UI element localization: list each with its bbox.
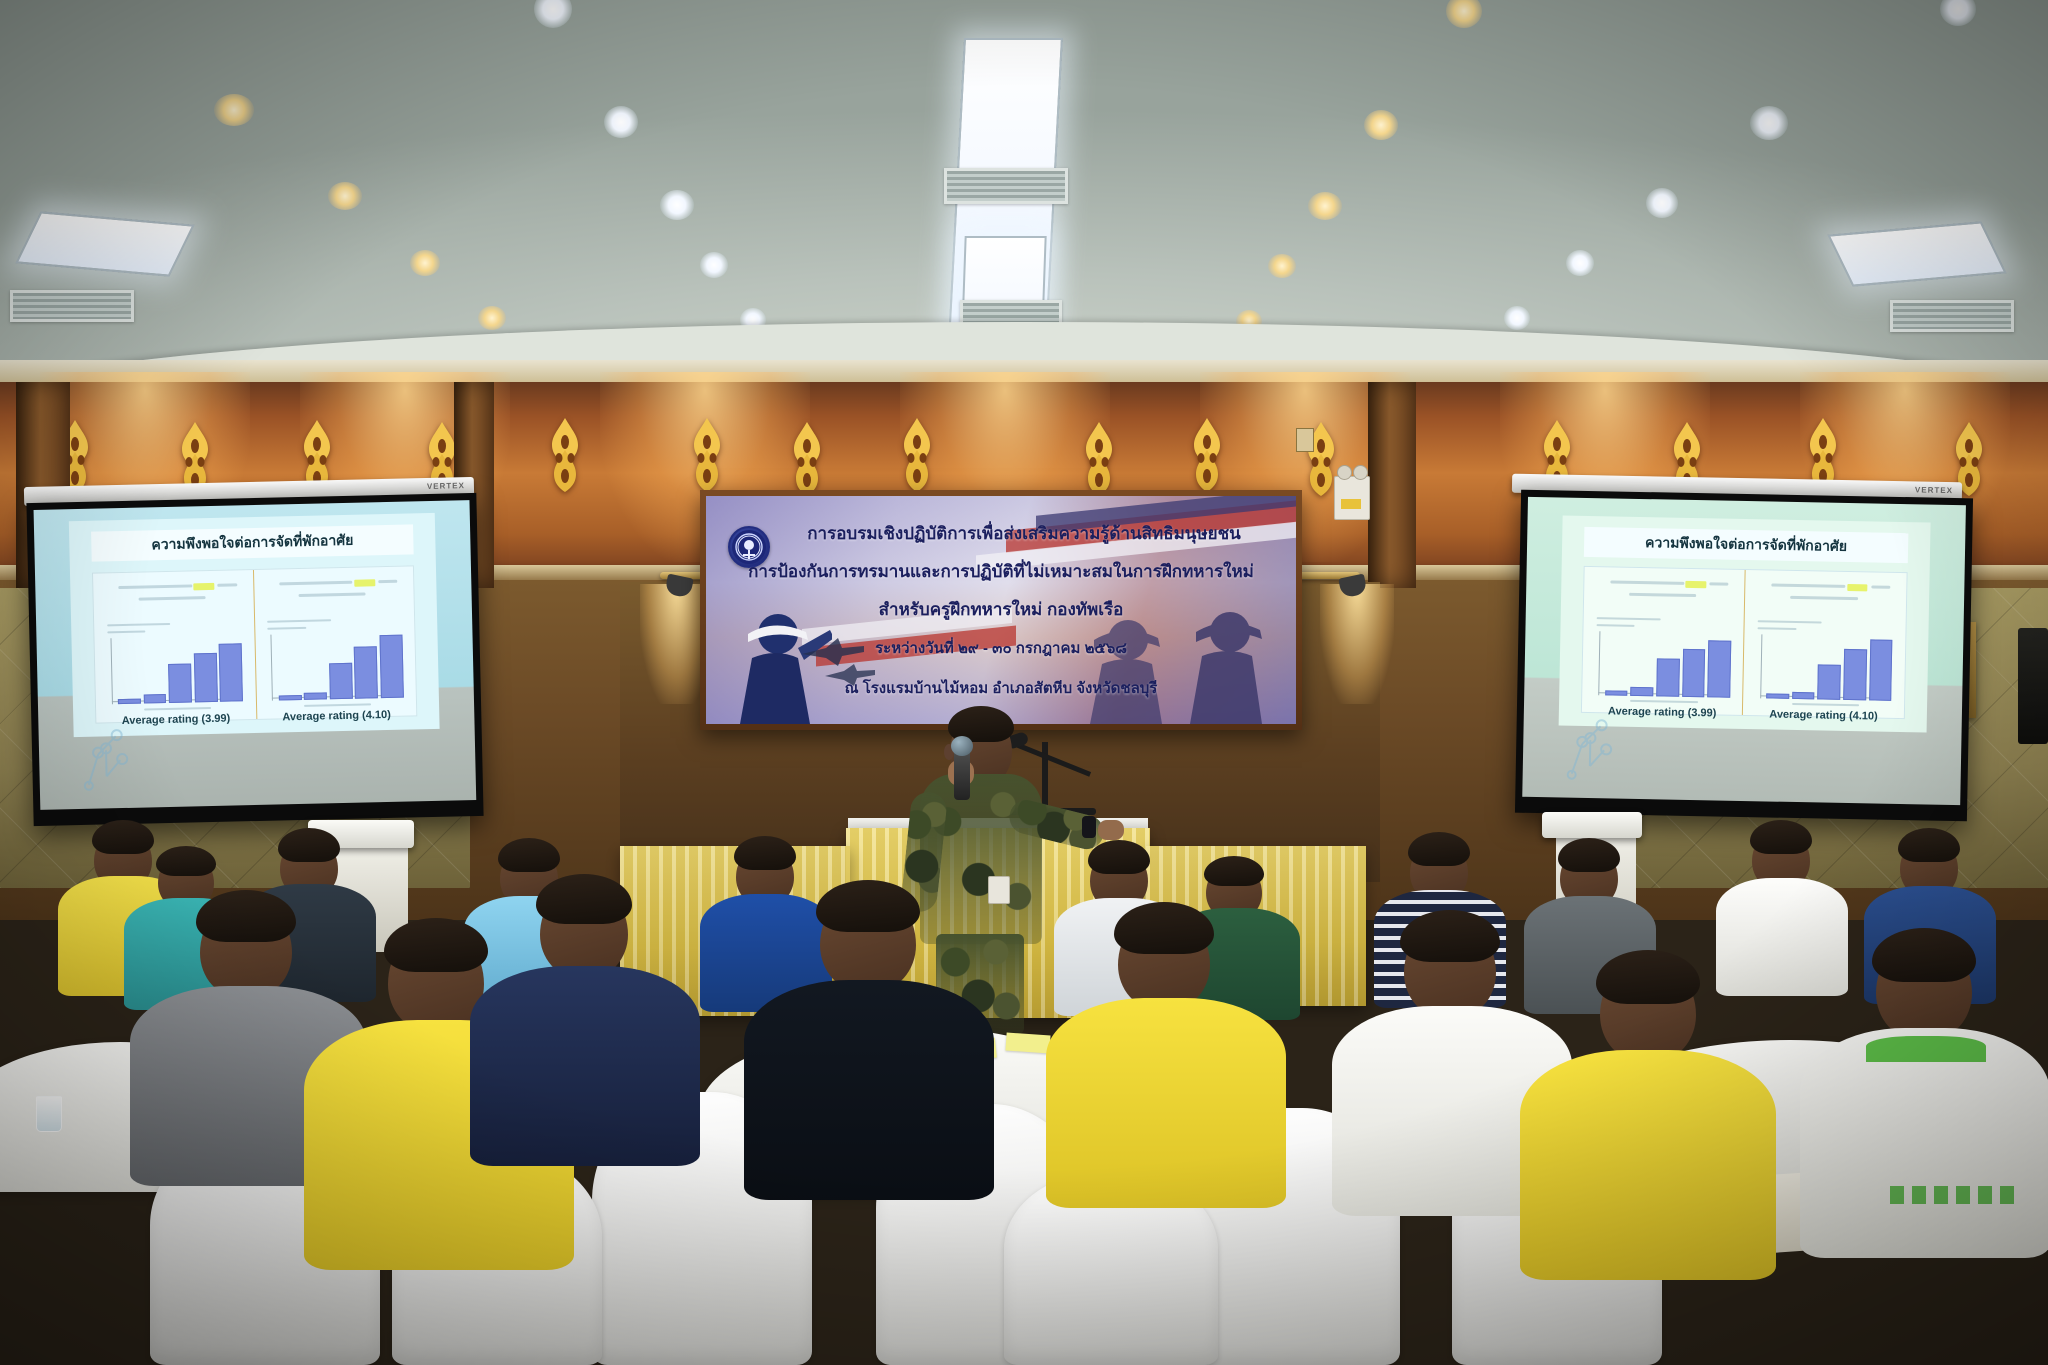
right-projection-screen: ความพึงพอใจต่อการจัดที่พักอาศัย [1515,490,1973,822]
ceiling-air-vent [10,290,134,322]
ceiling-downlight [1364,110,1398,140]
bar-3 [1656,659,1680,697]
highlight-value-b [354,579,375,586]
event-banner-frame: การอบรมเชิงปฏิบัติการเพื่อส่งเสริมความรู… [700,490,1302,730]
audience-hair [278,828,340,862]
ceiling-downlight [534,0,572,28]
bar-4 [354,646,378,698]
bar-5 [380,635,404,698]
wall-pillar-right [1368,382,1416,588]
ceiling-downlight [1504,306,1530,330]
audience-torso-front [1520,1050,1776,1280]
bar-2 [1792,692,1815,699]
ceiling-downlight [1236,310,1262,332]
highlight-value-b [1847,584,1868,591]
ceiling-downlight [1646,188,1678,218]
left-average-rating-b: Average rating (4.10) [257,708,417,724]
bar-2 [1630,687,1653,696]
audience-hair [498,838,560,872]
bar-4 [1682,649,1706,697]
right-slide-chart-area: Average rating (3.99) [1581,566,1908,719]
emergency-light-fixture [1334,476,1370,520]
bar-5 [1707,641,1731,698]
conference-room-photo: VERTEX ความพึงพอใจต่อการจัดที่พักอาศัย [0,0,2048,1365]
audience-torso-front [1046,998,1286,1208]
audience-hair [1204,856,1264,886]
ceiling-downlight [214,94,254,126]
banner-line-2: การป้องกันการทรมานและการปฏิบัติที่ไม่เหม… [706,558,1296,585]
shirt-print-text [1890,1186,2020,1204]
bar-1 [279,695,302,700]
ceiling-downlight [700,252,728,278]
microphone-head [951,736,973,756]
thai-gold-ornament [690,418,724,492]
right-slide-title: ความพึงพอใจต่อการจัดที่พักอาศัย [1584,526,1908,562]
right-chart-panel-b: Average rating (4.10) [1743,570,1906,718]
ceiling-downlight [410,250,440,276]
thai-gold-ornament [1190,418,1224,492]
highlight-value-a [1685,581,1706,588]
right-slide: ความพึงพอใจต่อการจัดที่พักอาศัย [1559,515,1931,732]
thai-gold-ornament [900,418,934,492]
ceiling-downlight [604,106,638,138]
audience-hair [1408,832,1470,866]
bar-3 [168,664,192,703]
audience-torso [1716,878,1848,996]
bar-4 [1843,649,1867,700]
thai-gold-ornament [1082,422,1116,496]
banner-line-3: สำหรับครูฝึกทหารใหม่ กองทัพเรือ [706,596,1296,623]
ceiling-air-vent [960,300,1062,328]
ceiling-downlight [1446,0,1482,28]
banner-line-4: ระหว่างวันที่ ๒๙ - ๓๐ กรกฎาคม ๒๕๖๘ [706,636,1296,660]
bar-1 [1605,690,1628,695]
bar-5 [219,643,243,701]
audience-hair [1898,828,1960,862]
screen-brand-label: VERTEX [427,481,465,491]
banner-line-5: ณ โรงแรมบ้านไม้หอม อำเภอสัตหีบ จังหวัดชล… [706,676,1296,700]
ceiling-panel-light [15,211,194,276]
wall-speaker [2018,628,2048,744]
presenter-id-badge [988,876,1010,904]
presenter-wristwatch [1082,816,1096,838]
water-glass[interactable] [36,1096,62,1132]
left-screen-surface: ความพึงพอใจต่อการจัดที่พักอาศัย [34,500,477,810]
bar-1 [118,699,141,704]
left-slide-chart-area: Average rating (3.99) [92,565,418,723]
ceiling-panel-light [1827,221,2006,286]
left-chart-panel-b: Average rating (4.10) [253,566,416,719]
event-banner: การอบรมเชิงปฏิบัติการเพื่อส่งเสริมความรู… [706,496,1296,724]
audience-hair [92,820,154,854]
right-average-rating-b: Average rating (4.10) [1743,708,1904,723]
left-projection-screen: ความพึงพอใจต่อการจัดที่พักอาศัย [26,493,483,826]
thai-gold-ornament [548,418,582,492]
ceiling-downlight [1940,0,1976,26]
slide-node-decoration [75,714,147,796]
bar-2 [304,692,327,700]
audience-hair [1088,840,1150,874]
screen-brand-label: VERTEX [1915,485,1953,495]
audience-hair [156,846,216,876]
thai-gold-ornament [790,422,824,496]
ceiling-downlight [478,306,506,330]
audience-torso-front [1800,1028,2048,1258]
bar-5 [1869,640,1893,701]
projector-right [1542,812,1642,838]
ceiling-air-vent [944,168,1068,204]
banner-light-glow-right [1320,584,1394,704]
audience-hair [1558,838,1620,872]
ceiling-downlight [1308,192,1342,220]
sticky-note[interactable] [1005,1032,1050,1053]
bar-1 [1766,693,1789,698]
ceiling-downlight [328,182,362,210]
right-screen-surface: ความพึงพอใจต่อการจัดที่พักอาศัย [1522,497,1966,805]
ceiling-downlight [660,190,694,220]
banner-line-1: การอบรมเชิงปฏิบัติการเพื่อส่งเสริมความรู… [706,520,1296,547]
ceiling-downlight [1268,254,1296,278]
audience-hair [734,836,796,870]
right-chart-panel-a: Average rating (3.99) [1582,567,1745,715]
shirt-green-collar [1866,1036,1986,1062]
audience-torso-front [470,966,700,1166]
slide-node-decoration [1560,703,1632,784]
left-slide-title: ความพึงพอใจต่อการจัดที่พักอาศัย [91,524,414,561]
audience-torso-front [744,980,994,1200]
highlight-value-a [194,583,215,590]
ceiling [0,0,2048,372]
ceiling-downlight [1750,106,1788,140]
bar-3 [1817,665,1841,700]
wall-switch-plate[interactable] [1296,428,1314,452]
audience-hair [1750,820,1812,854]
left-slide: ความพึงพอใจต่อการจัดที่พักอาศัย [69,513,440,737]
ceiling-air-vent [1890,300,2014,332]
audience-hair-front [1596,950,1700,1004]
ceiling-downlight [740,308,766,332]
left-chart-panel-a: Average rating (3.99) [93,570,256,723]
presenter-right-hand [1098,820,1124,840]
bar-2 [144,694,167,703]
bar-3 [329,663,353,699]
bar-4 [194,653,218,703]
ceiling-downlight [1566,250,1594,276]
